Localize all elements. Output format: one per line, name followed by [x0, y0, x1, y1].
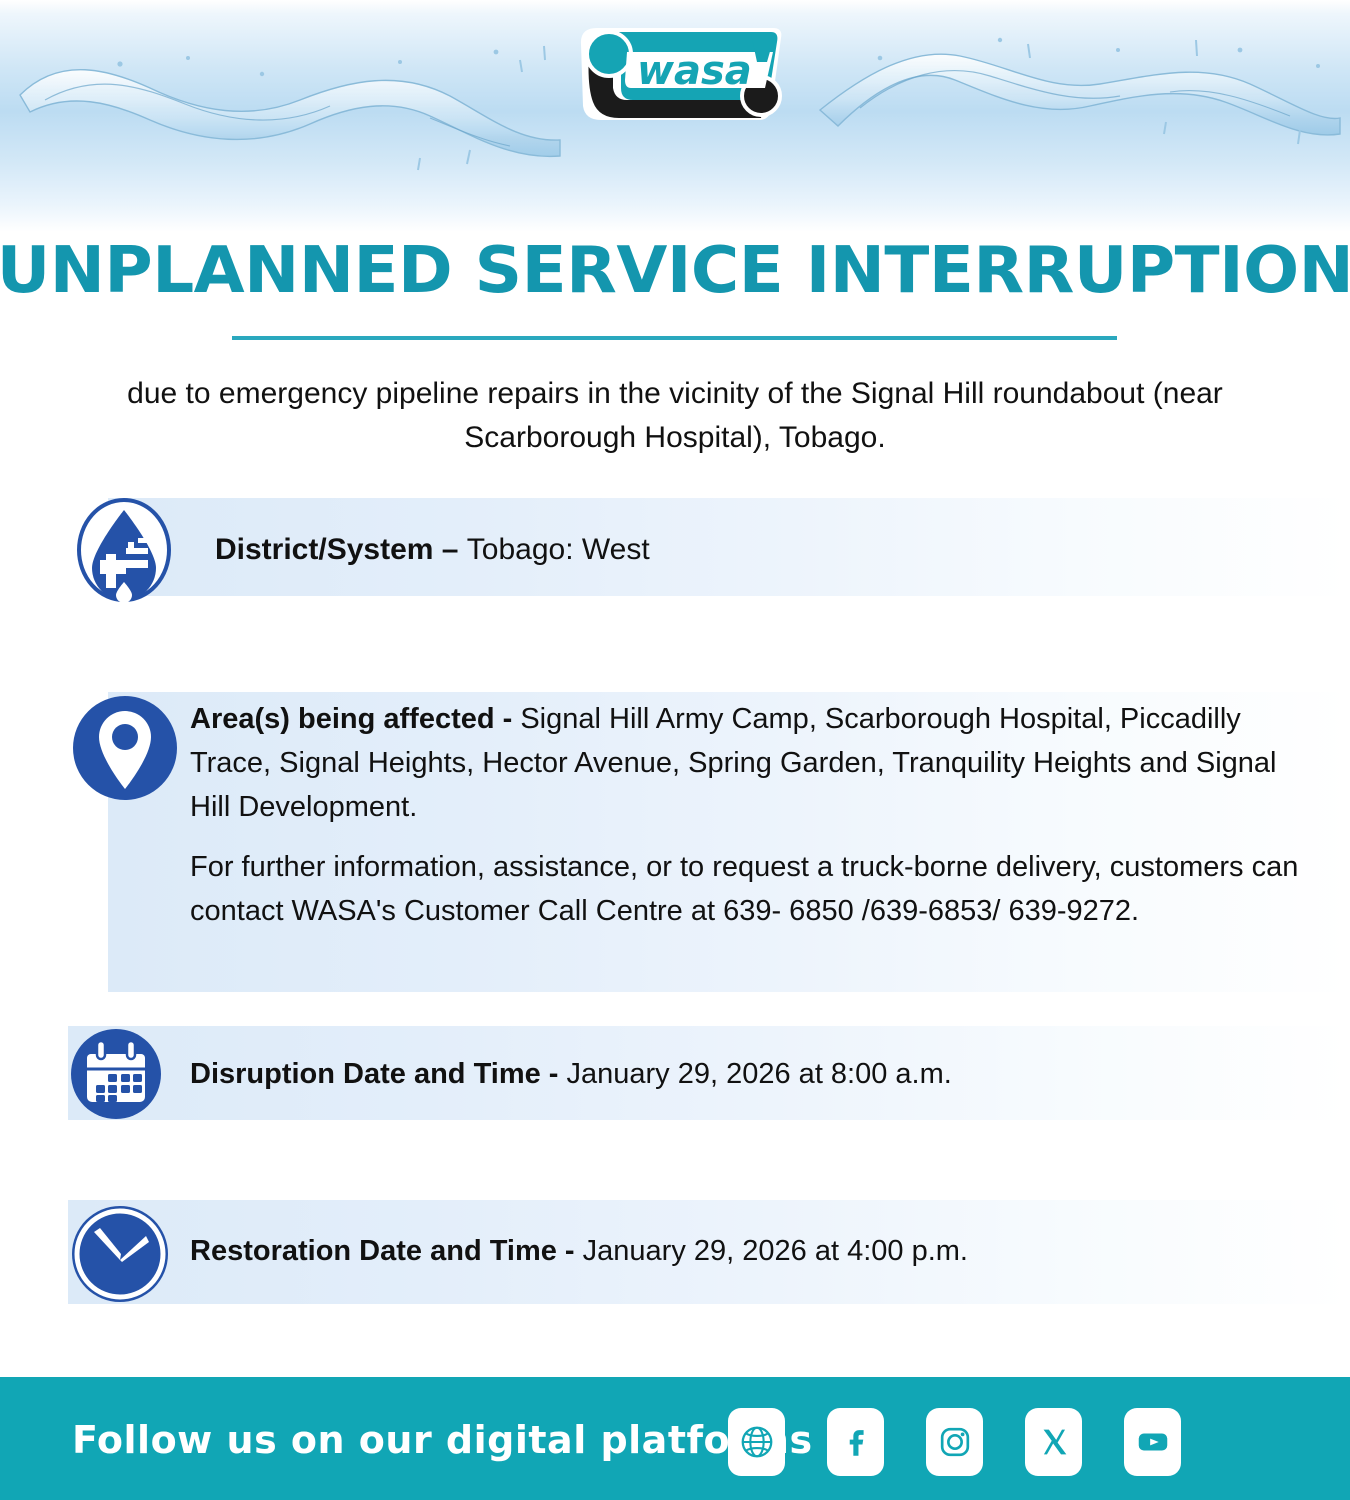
district-text: District/System – Tobago: West [215, 528, 1215, 572]
restoration-value: January 29, 2026 at 4:00 p.m. [583, 1235, 968, 1267]
disruption-text: Disruption Date and Time - January 29, 2… [190, 1052, 1290, 1096]
water-drop-tap-icon [72, 498, 177, 603]
district-label: District/System – [215, 533, 467, 566]
restoration-label: Restoration Date and Time - [190, 1235, 583, 1267]
website-globe-icon[interactable] [728, 1408, 785, 1476]
district-value: Tobago: West [467, 533, 650, 566]
wasa-wordmark: wasa [637, 48, 752, 94]
wasa-logo: wasa [575, 22, 790, 132]
follow-us-label: Follow us on our digital platforms [72, 1418, 813, 1462]
contact-note: For further information, assistance, or … [190, 845, 1305, 933]
clock-icon [70, 1204, 170, 1304]
social-links [728, 1408, 1181, 1476]
area-label: Area(s) being affected - [190, 703, 520, 735]
instagram-icon[interactable] [926, 1408, 983, 1476]
disruption-label: Disruption Date and Time - [190, 1058, 567, 1090]
page-subtitle: due to emergency pipeline repairs in the… [70, 372, 1280, 460]
page-title: UNPLANNED SERVICE INTERRUPTION [0, 234, 1350, 308]
calendar-icon [70, 1028, 162, 1120]
location-pin-icon [70, 693, 180, 803]
disruption-value: January 29, 2026 at 8:00 a.m. [567, 1058, 952, 1090]
title-divider [232, 336, 1117, 340]
x-twitter-icon[interactable] [1025, 1408, 1082, 1476]
header-banner: wasa [0, 0, 1350, 232]
facebook-icon[interactable] [827, 1408, 884, 1476]
area-text: Area(s) being affected - Signal Hill Arm… [190, 697, 1305, 829]
restoration-text: Restoration Date and Time - January 29, … [190, 1229, 1290, 1273]
youtube-icon[interactable] [1124, 1408, 1181, 1476]
